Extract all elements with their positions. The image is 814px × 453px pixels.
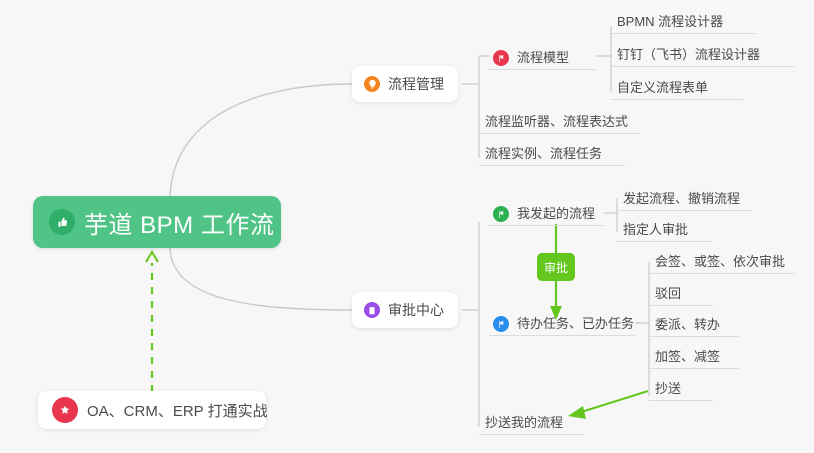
node-start-cancel-process[interactable]: 发起流程、撤销流程 — [617, 185, 751, 211]
node-label-custom-form: 自定义流程表单 — [617, 80, 708, 96]
flag-blue-icon — [493, 316, 509, 332]
node-label-cc: 抄送 — [655, 381, 681, 397]
root-node[interactable]: 芋道 BPM 工作流 — [33, 196, 281, 248]
node-label-delegate-transfer: 委派、转办 — [655, 317, 720, 333]
mindmap-canvas: 芋道 BPM 工作流 流程管理 流程模型 BPMN 流程设计器 钉钉（飞书）流程… — [0, 0, 814, 453]
node-label-add-remove-sign: 加签、减签 — [655, 349, 720, 365]
node-label-countersign: 会签、或签、依次审批 — [655, 254, 785, 270]
node-cc[interactable]: 抄送 — [649, 375, 713, 401]
node-label-bpmn-designer: BPMN 流程设计器 — [617, 14, 723, 30]
node-reject[interactable]: 驳回 — [649, 280, 713, 306]
node-cc-to-me[interactable]: 抄送我的流程 — [479, 409, 583, 435]
note-card-label: OA、CRM、ERP 打通实战 — [87, 400, 268, 421]
branch-card-process-management[interactable]: 流程管理 — [352, 66, 458, 102]
node-label-process-listener: 流程监听器、流程表达式 — [485, 114, 628, 130]
node-bpmn-designer[interactable]: BPMN 流程设计器 — [611, 8, 756, 34]
flag-green-icon — [493, 206, 509, 222]
node-label-start-cancel-process: 发起流程、撤销流程 — [623, 191, 740, 207]
root-label: 芋道 BPM 工作流 — [84, 205, 274, 240]
node-countersign[interactable]: 会签、或签、依次审批 — [649, 248, 794, 274]
node-label-my-initiated: 我发起的流程 — [517, 206, 595, 222]
branch-label-process-management: 流程管理 — [388, 74, 444, 94]
node-add-remove-sign[interactable]: 加签、减签 — [649, 343, 739, 369]
node-todo-done-tasks[interactable]: 待办任务、已办任务 — [489, 310, 635, 336]
note-card-integration[interactable]: OA、CRM、ERP 打通实战 — [38, 391, 266, 429]
node-custom-form[interactable]: 自定义流程表单 — [611, 74, 743, 100]
node-process-listener[interactable]: 流程监听器、流程表达式 — [479, 108, 639, 134]
node-process-instance[interactable]: 流程实例、流程任务 — [479, 140, 625, 166]
lightbulb-icon — [364, 76, 380, 92]
node-label-todo-done-tasks: 待办任务、已办任务 — [517, 316, 634, 332]
node-my-initiated[interactable]: 我发起的流程 — [489, 200, 604, 226]
star-icon — [52, 397, 78, 423]
node-label-reject: 驳回 — [655, 286, 681, 302]
node-assignee-approval[interactable]: 指定人审批 — [617, 216, 711, 242]
node-label-assignee-approval: 指定人审批 — [623, 222, 688, 238]
annotation-chip-label: 审批 — [544, 259, 568, 276]
annotation-chip-approval: 审批 — [537, 253, 575, 281]
branch-card-approval-center[interactable]: 审批中心 — [352, 292, 458, 328]
branch-label-approval-center: 审批中心 — [388, 300, 444, 320]
node-label-process-instance: 流程实例、流程任务 — [485, 146, 602, 162]
thumbs-up-icon — [49, 209, 75, 235]
node-delegate-transfer[interactable]: 委派、转办 — [649, 311, 739, 337]
flag-red-icon — [493, 50, 509, 66]
node-label-dingtalk-designer: 钉钉（飞书）流程设计器 — [617, 47, 760, 63]
node-label-cc-to-me: 抄送我的流程 — [485, 415, 563, 431]
clipboard-icon — [364, 302, 380, 318]
node-label-process-model: 流程模型 — [517, 50, 569, 66]
node-dingtalk-designer[interactable]: 钉钉（飞书）流程设计器 — [611, 41, 794, 67]
node-process-model[interactable]: 流程模型 — [489, 44, 596, 70]
